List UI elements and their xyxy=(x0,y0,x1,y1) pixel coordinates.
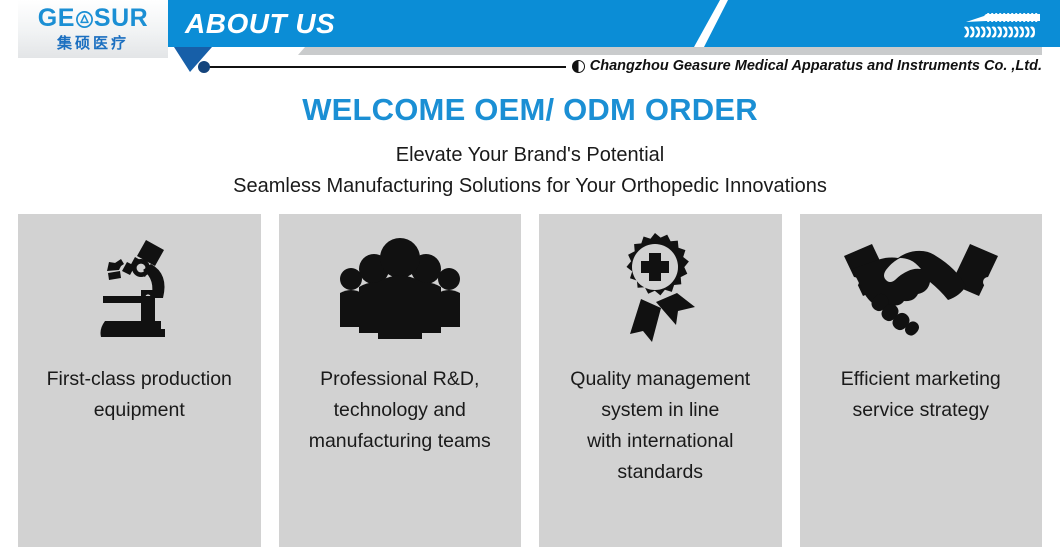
feature-card[interactable]: First-class production equipment xyxy=(18,214,261,547)
feature-card-text: Quality management system in line with i… xyxy=(560,364,760,488)
water-drop-a-icon xyxy=(76,11,93,28)
team-people-icon xyxy=(279,214,522,364)
orthopedic-screws-icon xyxy=(956,13,1042,39)
logo-wordmark-left: GE xyxy=(38,4,75,32)
handshake-icon xyxy=(800,214,1043,364)
feature-card[interactable]: Efficient marketing service strategy xyxy=(800,214,1043,547)
microscope-icon xyxy=(18,214,261,364)
feature-card-text: Professional R&D, technology and manufac… xyxy=(299,364,501,457)
banner-title: ABOUT US xyxy=(185,8,335,40)
brand-logo[interactable]: GESUR 集硕医疗 xyxy=(18,0,168,58)
feature-card-grid: First-class production equipment Prof xyxy=(18,214,1042,547)
feature-card-text: Efficient marketing service strategy xyxy=(831,364,1011,426)
feature-card[interactable]: Professional R&D, technology and manufac… xyxy=(279,214,522,547)
company-name-line: Changzhou Geasure Medical Apparatus and … xyxy=(566,55,1042,77)
feature-card-text: First-class production equipment xyxy=(37,364,242,426)
header-accent-triangle xyxy=(174,47,212,72)
company-name: Changzhou Geasure Medical Apparatus and … xyxy=(590,58,1042,74)
subtitle-line-2: Seamless Manufacturing Solutions for You… xyxy=(0,175,1060,198)
page-title: WELCOME OEM/ ODM ORDER xyxy=(0,92,1060,128)
subtitle-line-1: Elevate Your Brand's Potential xyxy=(0,144,1060,167)
logo-wrap: GESUR 集硕医疗 xyxy=(18,6,168,51)
quality-medal-icon xyxy=(539,214,782,364)
half-filled-circle-icon xyxy=(572,60,585,73)
feature-card[interactable]: Quality management system in line with i… xyxy=(539,214,782,547)
page-header: ABOUT US xyxy=(0,0,1060,86)
logo-wordmark-right: SUR xyxy=(94,4,148,32)
logo-wordmark: GESUR xyxy=(38,6,148,31)
logo-chinese-name: 集硕医疗 xyxy=(18,36,168,51)
